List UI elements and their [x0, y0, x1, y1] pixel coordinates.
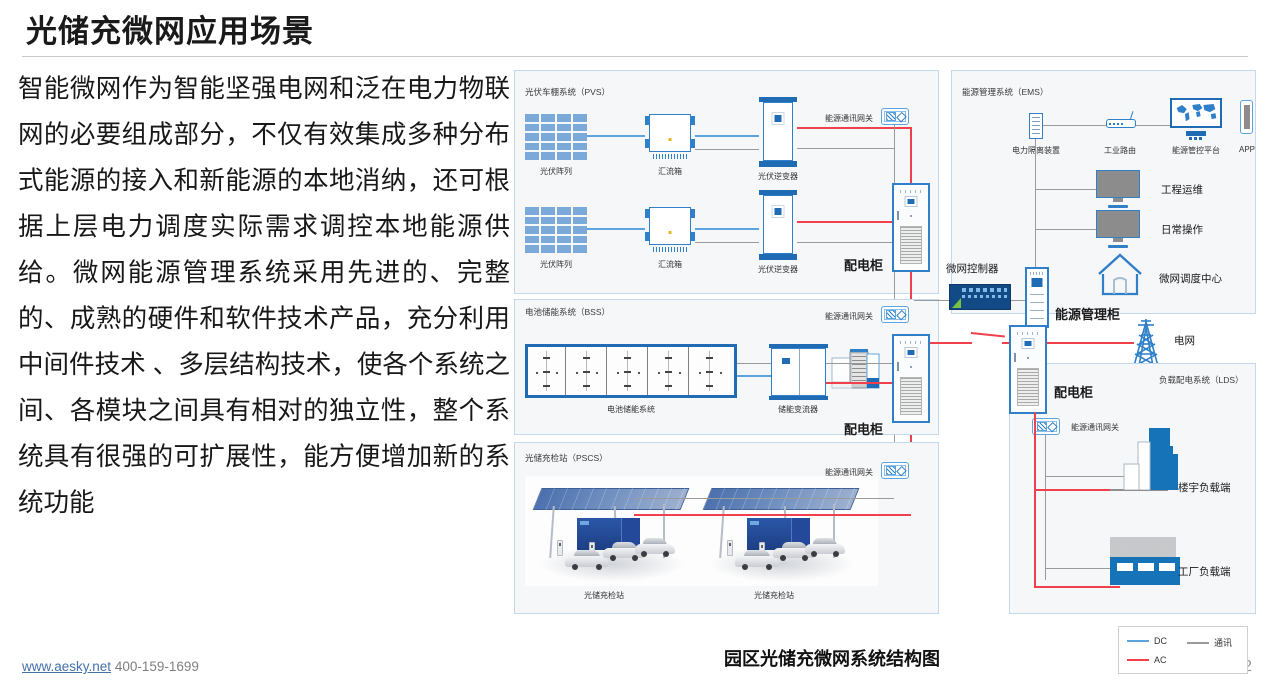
wire-comm-inverter2-cabinet: [797, 242, 895, 243]
cabinet-marker: [1027, 357, 1029, 359]
legend-swatch-comm: [1187, 642, 1209, 644]
wire-ac-lds-vertical: [1034, 412, 1036, 587]
wire-dc-battery-pcs: [737, 375, 771, 377]
car-wheel: [610, 555, 616, 561]
combiner-fins: [653, 247, 687, 252]
combiner-box-1-label: 汇流箱: [645, 166, 695, 177]
pv-cell: [573, 245, 587, 253]
pv-cell: [541, 226, 555, 234]
world-map-icon: [1172, 100, 1220, 126]
pv-array-2: [525, 207, 587, 253]
cabinet-screen: [905, 196, 918, 207]
pv-cell: [525, 245, 539, 253]
battery-hinge: [665, 357, 672, 359]
charging-station-2: [701, 476, 861, 586]
rack-shelf: [1030, 310, 1044, 311]
controller-display-line: [962, 288, 1007, 292]
wire-ac-inverter2-cabinet: [797, 221, 901, 223]
cabinet-vent: [1017, 368, 1039, 406]
controller-display-line: [962, 295, 1007, 298]
gateway-diamond: [897, 465, 907, 475]
battery-storage-label: 电池储能系统: [594, 404, 668, 415]
mobile-app-device: [1240, 100, 1253, 134]
platform-screen: [1170, 98, 1222, 128]
pv-cell: [573, 114, 587, 122]
inverter-body: [763, 195, 793, 254]
pv-cell: [557, 114, 571, 122]
combiner-box-2-label: 汇流箱: [645, 259, 695, 270]
pv-array-2-label: 光伏阵列: [525, 259, 587, 270]
wire-comm-battery-pcs: [737, 363, 771, 364]
router-leds: [1109, 123, 1123, 125]
wire-dc-array2-combiner: [587, 228, 645, 230]
inverter-body: [763, 102, 793, 161]
cabinet-indicator-row: [900, 341, 922, 344]
cabinet-vent: [900, 377, 922, 415]
daily-operation-monitor: [1096, 210, 1140, 248]
station-cabinet-badge: [580, 521, 589, 525]
electric-car: [805, 538, 845, 557]
battery-storage-container: [525, 344, 737, 398]
electric-car: [635, 538, 675, 557]
rack-shelf: [1030, 318, 1044, 319]
rack-screen: [1032, 278, 1043, 287]
pv-cell: [525, 236, 539, 244]
wire-comm-pcs-cabinet: [826, 363, 892, 364]
wire-comm-combiner2: [695, 242, 759, 243]
wire-comm-mgctrl-rack: [1011, 300, 1026, 301]
battery-hinge: [583, 385, 590, 387]
controller-logo: [952, 298, 961, 308]
gateway-inner: [884, 465, 906, 476]
wire-dc-array1-combiner: [587, 135, 645, 137]
battery-hinge: [624, 385, 631, 387]
lds-cabinet-label: 配电柜: [1054, 382, 1093, 401]
car-wheel: [641, 551, 647, 557]
pcs-label: 储能变流器: [767, 404, 829, 415]
gateway-diamond: [897, 111, 907, 121]
distribution-cabinet-pvs: [892, 183, 930, 272]
pv-cell: [557, 217, 571, 225]
gateway-inner: [884, 111, 906, 122]
pv-cell: [541, 245, 555, 253]
platform-keyboard: [1189, 137, 1204, 140]
ops-label: 工程运维: [1161, 182, 1203, 197]
battery-dot: [576, 372, 578, 374]
dispatch-label: 微网调度中心: [1159, 271, 1222, 286]
wire-comm-ops-monitor: [1035, 189, 1097, 190]
battery-dot: [556, 372, 558, 374]
wire-comm-inverter1-bus: [797, 148, 895, 149]
combiner-ear-right: [691, 232, 695, 241]
grid-tower: [1128, 316, 1164, 368]
pv-cell: [525, 217, 539, 225]
station-cabinet-badge: [750, 521, 759, 525]
pcs-screen: [782, 358, 790, 364]
distribution-cabinet-lds: [1009, 325, 1047, 414]
transmission-tower-icon: [1128, 316, 1164, 368]
pcs-divider: [799, 349, 800, 395]
diagram-caption: 园区光储充微网系统结构图: [724, 645, 940, 671]
pv-cell: [525, 133, 539, 141]
gateway-diamond: [1048, 421, 1058, 431]
pv-cell: [573, 133, 587, 141]
pvs-gateway-label: 能源通讯网关: [819, 113, 879, 124]
platform-stand: [1186, 131, 1207, 136]
gateway-hatch: [886, 466, 896, 475]
combiner-indicator: [669, 138, 672, 141]
wire-ac-pscs: [634, 514, 911, 516]
battery-hinge: [624, 357, 631, 359]
battery-hinge: [665, 371, 672, 373]
pv-cell: [573, 143, 587, 151]
cabinet-indicator-row: [900, 190, 922, 193]
pv-cell: [541, 133, 555, 141]
industrial-router: [1106, 112, 1136, 128]
energy-management-platform: [1170, 98, 1222, 140]
battery-segment-divider: [565, 347, 566, 395]
charging-station-1-label: 光储充检站: [564, 590, 644, 601]
combiner-ear-right: [691, 209, 695, 218]
legend-item-ac: AC: [1127, 655, 1167, 665]
cooling-unit-svg: [830, 344, 890, 396]
combiner-ear-right: [691, 139, 695, 148]
battery-hinge: [706, 385, 713, 387]
cabinet-marker: [910, 366, 912, 368]
pv-cell: [541, 236, 555, 244]
monitor-base: [1108, 245, 1127, 248]
car-wheel: [663, 551, 669, 557]
pv-inverter-1: [759, 97, 797, 167]
energy-gateway-icon-pvs[interactable]: [881, 108, 909, 125]
gateway-hatch: [886, 310, 896, 319]
legend-label-comm: 通讯: [1214, 636, 1232, 649]
platform-label: 能源管控平台: [1164, 145, 1228, 156]
page-title: 光储充微网应用场景: [26, 6, 314, 51]
pv-cell: [557, 152, 571, 160]
wire-ac-pcs-cabinet: [826, 382, 892, 384]
rack-shelf: [1030, 294, 1044, 295]
legend-swatch-dc: [1127, 640, 1149, 642]
battery-hinge: [706, 371, 713, 373]
battery-dot: [658, 372, 660, 374]
pv-cell: [541, 114, 555, 122]
cabinet-screen: [1022, 338, 1035, 349]
cabinet-handle: [1014, 353, 1016, 362]
inverter-screen: [772, 112, 785, 125]
factory-load: [1102, 519, 1188, 589]
legend-label-ac: AC: [1154, 655, 1167, 665]
cabinet-marker: [910, 215, 912, 217]
power-isolation-device: [1029, 113, 1043, 139]
bss-gateway-label: 能源通讯网关: [819, 311, 879, 322]
pv-cell: [525, 226, 539, 234]
energy-gateway-icon-bss[interactable]: [881, 306, 909, 323]
energy-gateway-icon-pscs[interactable]: [881, 462, 909, 479]
battery-hinge: [543, 385, 550, 387]
monitor-base: [1108, 205, 1127, 208]
pcs-bottom-bar: [769, 396, 828, 400]
ev-charger: [727, 540, 733, 556]
gateway-hatch: [886, 112, 896, 121]
battery-segment-divider: [606, 347, 607, 395]
battery-dot: [596, 372, 598, 374]
panel-bss-title: 电池储能系统（BSS）: [525, 306, 610, 318]
battery-hinge: [624, 371, 631, 373]
car-wheel: [766, 564, 772, 570]
footer-phone: 400-159-1699: [115, 659, 199, 674]
pv-cell: [573, 152, 587, 160]
pv-cell: [573, 236, 587, 244]
monitor-neck: [1113, 238, 1123, 242]
battery-hinge: [543, 371, 550, 373]
wire-comm-lds-vertical: [1045, 434, 1046, 580]
pv-cell: [525, 124, 539, 132]
distribution-cabinet-bss: [892, 334, 930, 423]
cabinet-handle: [897, 362, 899, 371]
legend-item-comm: 通讯: [1187, 636, 1232, 649]
app-label: APP: [1228, 145, 1266, 154]
router-antenna: [1130, 111, 1134, 119]
pv-cell: [573, 207, 587, 215]
combiner-fins: [653, 154, 687, 159]
battery-hinge: [706, 357, 713, 359]
pv-cell: [541, 217, 555, 225]
monitor-neck: [1113, 198, 1123, 202]
panel-pvs-title: 光伏车棚系统（PVS）: [525, 86, 610, 98]
house-icon: [1096, 252, 1144, 296]
microgrid-controller: [949, 284, 1011, 310]
system-architecture-diagram: 光伏车棚系统（PVS） 光伏阵列 汇流箱: [514, 64, 1256, 624]
monitor-screen: [1096, 170, 1140, 198]
pvs-cabinet-label: 配电柜: [844, 255, 883, 274]
ev-charger: [557, 540, 563, 556]
panel-pscs-title: 光储充检站（PSCS）: [525, 452, 608, 464]
car-wheel: [742, 564, 748, 570]
wire-comm-router-platform: [1136, 125, 1172, 126]
gateway-hatch: [1037, 422, 1047, 431]
gateway-diamond: [897, 309, 907, 319]
building-load-label: 楼宇负载端: [1178, 480, 1231, 495]
pcs-top-bar: [769, 344, 828, 348]
rack-shelf: [1030, 302, 1044, 303]
pv-cell: [541, 152, 555, 160]
pv-cell: [557, 245, 571, 253]
dispatch-center-house: [1096, 252, 1144, 296]
footer: www.aesky.net 400-159-1699: [22, 659, 199, 674]
pv-cell: [525, 114, 539, 122]
panel-ems-title: 能源管理系统（EMS）: [962, 86, 1048, 98]
pv-cell: [573, 226, 587, 234]
factory-load-label: 工厂负载端: [1178, 564, 1231, 579]
pv-cell: [541, 143, 555, 151]
car-wheel: [596, 564, 602, 570]
ops-monitor: [1096, 170, 1140, 208]
energy-gateway-icon-lds[interactable]: [1032, 418, 1060, 435]
slide-root: 光储充微网应用场景 智能微网作为智能坚强电网和泛在电力物联网的必要组成部分，不仅…: [0, 0, 1270, 683]
pv-cell: [557, 226, 571, 234]
wire-comm-iso-router: [1043, 125, 1109, 126]
pv-cell: [557, 133, 571, 141]
battery-dot: [720, 372, 722, 374]
car-wheel: [811, 551, 817, 557]
wire-comm-pscs: [634, 498, 894, 499]
energy-management-rack: [1025, 267, 1049, 328]
combiner-box-2: [645, 203, 695, 252]
router-label: 工业路由: [1092, 145, 1148, 156]
pv-cell: [557, 207, 571, 215]
wire-comm-combiner1: [695, 149, 759, 150]
inverter-bottom-bar: [759, 161, 797, 167]
legend-swatch-ac: [1127, 659, 1149, 661]
charging-station-2-label: 光储充检站: [734, 590, 814, 601]
pv-array-1-label: 光伏阵列: [525, 166, 587, 177]
battery-hinge: [543, 357, 550, 359]
pv-cell: [557, 124, 571, 132]
wire-dc-combiner1-inverter: [695, 135, 759, 137]
cabinet-screen: [905, 347, 918, 358]
energy-storage-converter: [771, 348, 826, 396]
rack-top-vent: [1030, 272, 1044, 275]
battery-segment-divider: [647, 347, 648, 395]
cabinet-vent: [900, 226, 922, 264]
battery-hinge: [665, 385, 672, 387]
pv-cell: [541, 124, 555, 132]
combiner-body: [649, 114, 691, 152]
battery-dot: [617, 372, 619, 374]
battery-segment-divider: [688, 347, 689, 395]
wire-dc-combiner2-inverter: [695, 228, 759, 230]
pv-cell: [557, 236, 571, 244]
pv-inverter-2: [759, 190, 797, 260]
bss-cabinet-label: 配电柜: [844, 419, 883, 438]
footer-website-link[interactable]: www.aesky.net: [22, 659, 111, 674]
cooling-unit: [830, 344, 890, 396]
pv-cell: [525, 207, 539, 215]
cabinet-indicator-row: [1017, 332, 1039, 335]
building-load: [1112, 422, 1180, 490]
monitor-screen: [1096, 210, 1140, 238]
charging-station-1: [531, 476, 691, 586]
car-wheel: [572, 564, 578, 570]
pv-cell: [557, 143, 571, 151]
daily-label: 日常操作: [1161, 222, 1203, 237]
title-divider: [22, 56, 1248, 57]
pv-inverter-2-label: 光伏逆变器: [752, 264, 804, 275]
carport-leg: [549, 506, 555, 558]
battery-hinge: [583, 357, 590, 359]
pv-cell: [525, 152, 539, 160]
car-wheel: [833, 551, 839, 557]
battery-hinge: [583, 371, 590, 373]
battery-dot: [699, 372, 701, 374]
battery-dot: [536, 372, 538, 374]
legend-label-dc: DC: [1154, 636, 1167, 646]
pv-inverter-1-label: 光伏逆变器: [752, 171, 804, 182]
pv-cell: [541, 207, 555, 215]
wire-ac-cabinet-grid-left: [930, 342, 972, 344]
battery-dot: [638, 372, 640, 374]
pv-cell: [573, 124, 587, 132]
body-paragraph: 智能微网作为智能坚强电网和泛在电力物联网的必要组成部分，不仅有效集成多种分布式能…: [18, 66, 510, 526]
inverter-screen: [772, 205, 785, 218]
charging-station-scene: [525, 476, 878, 586]
legend-item-dc: DC: [1127, 636, 1167, 646]
grid-label: 电网: [1174, 333, 1195, 348]
combiner-body: [649, 207, 691, 245]
controller-label: 微网控制器: [946, 261, 999, 276]
combiner-box-1: [645, 110, 695, 159]
rack-label: 能源管理柜: [1055, 304, 1120, 323]
gateway-inner: [1035, 421, 1057, 432]
pv-cell: [573, 217, 587, 225]
building-icon: [1112, 422, 1180, 490]
car-wheel: [780, 555, 786, 561]
combiner-indicator: [669, 231, 672, 234]
battery-dot: [679, 372, 681, 374]
panel-lds-title: 负载配电系统（LDS）: [1159, 374, 1244, 386]
cabinet-handle: [897, 211, 899, 220]
legend: DC 通讯 AC: [1118, 626, 1248, 674]
pv-array-1: [525, 114, 587, 160]
wire-comm-controller-rack: [914, 300, 949, 301]
gateway-inner: [884, 309, 906, 320]
wire-ac-switch-blade: [971, 332, 1005, 337]
combiner-ear-right: [691, 116, 695, 125]
factory-icon: [1102, 519, 1188, 589]
pv-cell: [525, 143, 539, 151]
inverter-bottom-bar: [759, 254, 797, 260]
wire-comm-daily-monitor: [1035, 229, 1097, 230]
